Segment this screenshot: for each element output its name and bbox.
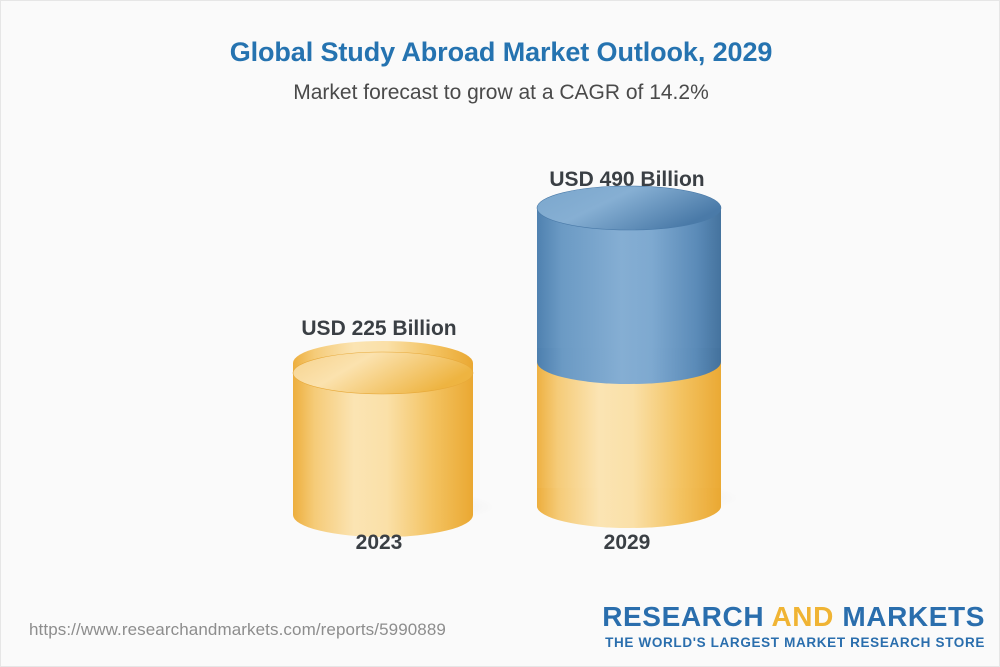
research-and-markets-logo[interactable]: RESEARCH AND MARKETS THE WORLD'S LARGEST… <box>602 602 985 651</box>
logo-wordmark: RESEARCH AND MARKETS <box>602 602 985 632</box>
logo-word-research: RESEARCH <box>602 601 764 632</box>
bar-category-label-2029: 2029 <box>477 531 777 555</box>
cylinder-2023[interactable] <box>283 357 493 537</box>
chart-plot-area: USD 225 Billion 2023 USD 490 Billion <box>1 1 1000 601</box>
cylinder-2029-segment-growth <box>535 208 723 362</box>
infographic-canvas: Global Study Abroad Market Outlook, 2029… <box>0 0 1000 667</box>
logo-word-and: AND <box>771 601 833 632</box>
source-url-link[interactable]: https://www.researchandmarkets.com/repor… <box>29 620 446 640</box>
cylinder-2029-svg <box>527 198 737 528</box>
footer: https://www.researchandmarkets.com/repor… <box>1 598 1000 666</box>
cylinder-2029-top-cap <box>537 186 721 230</box>
cylinder-2023-top-cap <box>293 352 473 394</box>
cylinder-2023-svg <box>283 357 493 537</box>
logo-word-markets: MARKETS <box>842 601 985 632</box>
bar-value-label-2023: USD 225 Billion <box>229 317 529 341</box>
cylinder-2029[interactable] <box>527 198 737 528</box>
cylinder-2029-bottom <box>537 488 721 528</box>
logo-tagline: THE WORLD'S LARGEST MARKET RESEARCH STOR… <box>602 634 985 651</box>
